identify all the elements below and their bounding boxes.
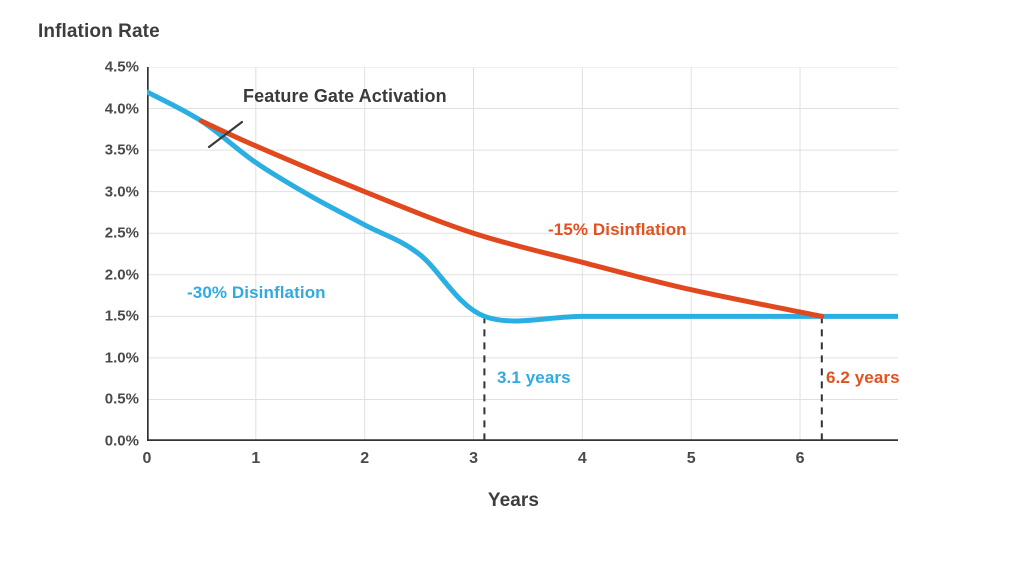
annotation-blue-series: -30% Disinflation: [187, 283, 326, 303]
y-axis-tick-label: 4.5%: [79, 59, 139, 76]
x-axis-tick-label: 4: [578, 450, 587, 468]
y-axis-tick-label: 3.5%: [79, 142, 139, 159]
annotation-orange-years: 6.2 years: [826, 368, 900, 388]
x-axis-tick-label: 0: [143, 450, 152, 468]
x-axis-tick-label: 3: [469, 450, 478, 468]
y-axis-tick-label: 4.0%: [79, 100, 139, 117]
annotation-feature-gate: Feature Gate Activation: [243, 86, 447, 107]
y-axis-tick-label: 0.5%: [79, 391, 139, 408]
x-axis-title: Years: [0, 490, 1027, 512]
annotation-orange-series: -15% Disinflation: [548, 220, 687, 240]
y-axis-tick-label: 3.0%: [79, 183, 139, 200]
y-axis-tick-label: 2.0%: [79, 266, 139, 283]
x-axis-tick-label: 5: [687, 450, 696, 468]
y-axis-title: Inflation Rate: [38, 21, 160, 43]
y-axis-tick-label: 1.0%: [79, 349, 139, 366]
inflation-rate-chart: Inflation Rate 0.0%0.5%1.0%1.5%2.0%2.5%3…: [0, 0, 1027, 561]
x-axis-tick-label: 6: [796, 450, 805, 468]
x-axis-tick-label: 2: [360, 450, 369, 468]
annotation-blue-years: 3.1 years: [497, 368, 571, 388]
y-axis-tick-label: 0.0%: [79, 433, 139, 450]
x-axis-tick-labels: 0123456: [147, 450, 898, 480]
y-axis-tick-labels: 0.0%0.5%1.0%1.5%2.0%2.5%3.0%3.5%4.0%4.5%: [79, 67, 139, 441]
y-axis-tick-label: 1.5%: [79, 308, 139, 325]
y-axis-tick-label: 2.5%: [79, 225, 139, 242]
x-axis-tick-label: 1: [251, 450, 260, 468]
